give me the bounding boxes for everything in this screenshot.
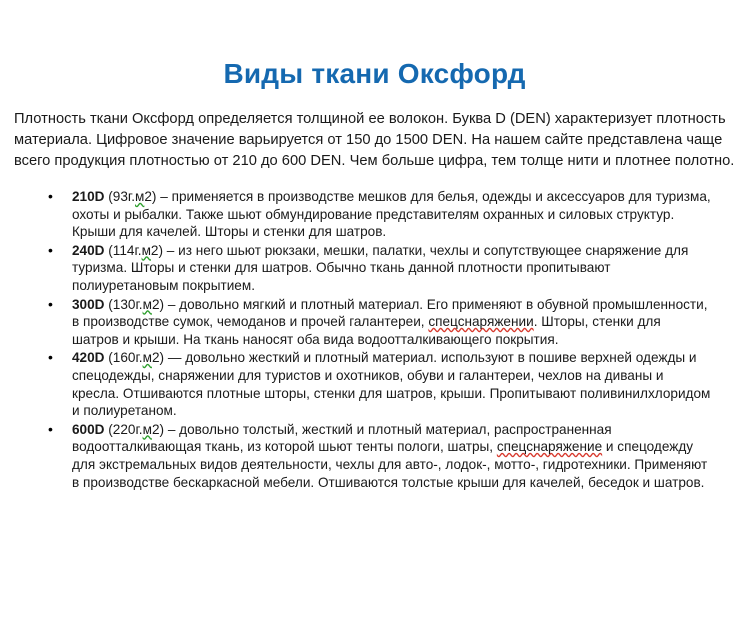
density-label: 420D xyxy=(72,350,105,365)
list-item-body: из него шьют рюкзаки, мешки, палатки, че… xyxy=(72,243,688,293)
dash: – xyxy=(168,422,176,437)
weight-prefix: (160г. xyxy=(108,350,142,365)
bullet-glyph-icon: • xyxy=(48,421,58,439)
spellcheck-green-word: м xyxy=(143,350,152,365)
bullet-glyph-icon: • xyxy=(48,296,58,314)
list-item: • 600D (220г.м2) – довольно толстый, жес… xyxy=(0,421,749,491)
list-item: • 420D (160г.м2) — довольно жесткий и пл… xyxy=(0,349,749,419)
bullet-glyph-icon: • xyxy=(48,349,58,367)
density-label: 600D xyxy=(72,422,105,437)
dash: – xyxy=(167,243,175,258)
density-label: 240D xyxy=(72,243,105,258)
weight-value: (130г.м2) xyxy=(108,297,164,312)
weight-suffix: 2) xyxy=(151,243,163,258)
list-item: • 210D (93г.м2) – применяется в производ… xyxy=(0,188,749,241)
spellcheck-green-word: м xyxy=(143,422,152,437)
weight-value: (114г.м2) xyxy=(108,243,163,258)
page-title: Виды ткани Оксфорд xyxy=(0,57,749,91)
weight-prefix: (114г. xyxy=(108,243,141,258)
list-item-text: 600D (220г.м2) – довольно толстый, жестк… xyxy=(72,421,711,491)
weight-prefix: (93г. xyxy=(108,189,135,204)
density-label: 210D xyxy=(72,189,105,204)
weight-suffix: 2) xyxy=(152,297,164,312)
weight-prefix: (220г. xyxy=(108,422,142,437)
weight-value: (93г.м2) xyxy=(108,189,156,204)
intro-paragraph: Плотность ткани Оксфорд определяется тол… xyxy=(14,109,738,173)
document-page: Виды ткани Оксфорд Плотность ткани Оксфо… xyxy=(0,0,749,637)
weight-prefix: (130г. xyxy=(108,297,142,312)
density-label: 300D xyxy=(72,297,105,312)
bullet-glyph-icon: • xyxy=(48,188,58,206)
list-item-body: применяется в производстве мешков для бе… xyxy=(72,189,711,239)
spellcheck-red-word: спецснаряжение xyxy=(497,439,602,454)
weight-suffix: 2) xyxy=(144,189,156,204)
weight-value: (220г.м2) xyxy=(108,422,164,437)
spellcheck-red-word: спецснаряжении xyxy=(428,314,533,329)
spellcheck-green-word: м xyxy=(135,189,144,204)
density-list: • 210D (93г.м2) – применяется в производ… xyxy=(0,188,749,492)
spellcheck-green-word: м xyxy=(143,297,152,312)
list-item: • 240D (114г.м2) – из него шьют рюкзаки,… xyxy=(0,242,749,295)
weight-suffix: 2) xyxy=(152,350,164,365)
dash: – xyxy=(160,189,168,204)
list-item-text: 210D (93г.м2) – применяется в производст… xyxy=(72,188,711,241)
list-item-text: 300D (130г.м2) – довольно мягкий и плотн… xyxy=(72,296,711,349)
weight-value: (160г.м2) xyxy=(108,350,164,365)
list-item-text: 420D (160г.м2) — довольно жесткий и плот… xyxy=(72,349,711,419)
weight-suffix: 2) xyxy=(152,422,164,437)
spellcheck-green-word: м xyxy=(142,243,151,258)
dash: — xyxy=(168,350,182,365)
list-item: • 300D (130г.м2) – довольно мягкий и пло… xyxy=(0,296,749,349)
list-item-text: 240D (114г.м2) – из него шьют рюкзаки, м… xyxy=(72,242,711,295)
bullet-glyph-icon: • xyxy=(48,242,58,260)
dash: – xyxy=(168,297,176,312)
